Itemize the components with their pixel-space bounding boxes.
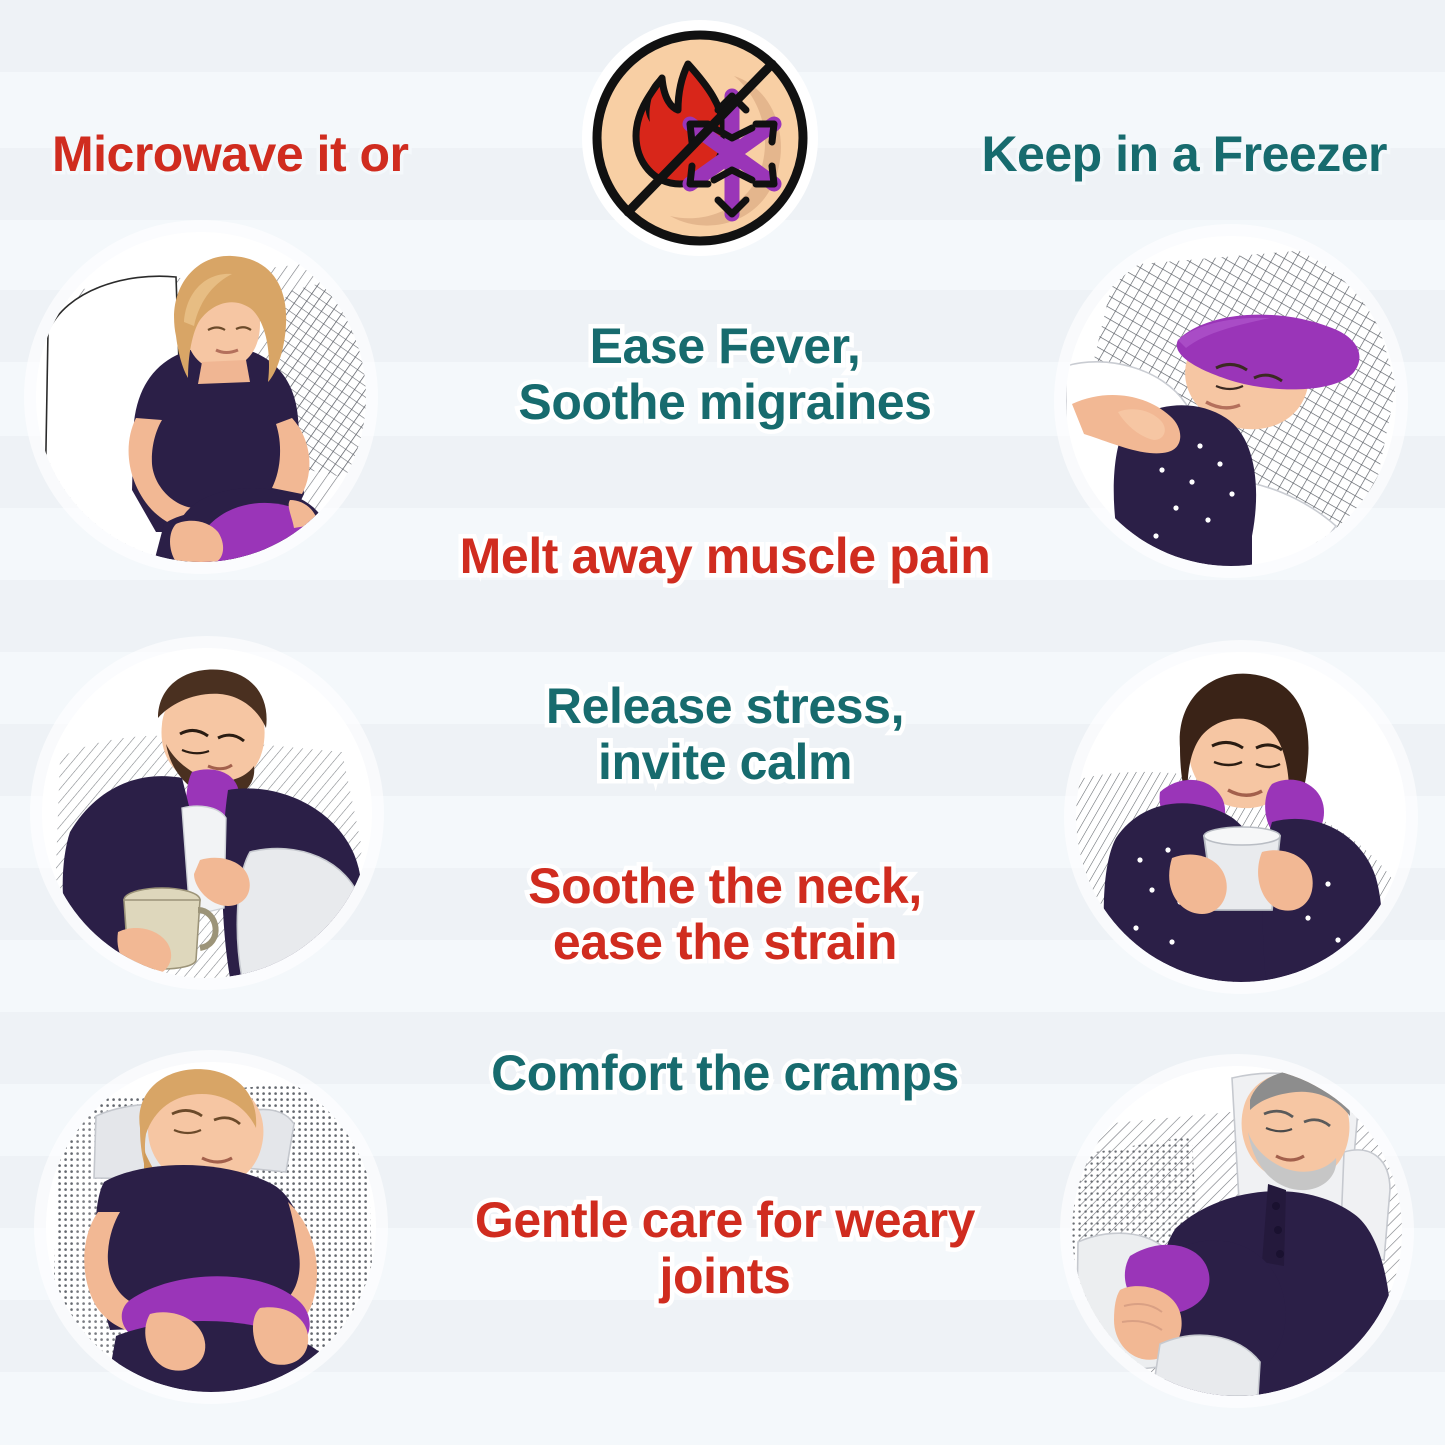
caption-line: invite calm: [400, 734, 1050, 790]
caption-line: Comfort the cramps: [360, 1045, 1090, 1101]
woman-heat-pack-on-knee: [36, 232, 366, 562]
caption-line: Ease Fever,: [355, 318, 1095, 374]
caption-melt-muscle-pain: Melt away muscle pain: [340, 528, 1110, 584]
heading-microwave: Microwave it or: [52, 128, 409, 181]
caption-line: Soothe the neck,: [380, 858, 1070, 914]
caption-release-stress: Release stress, invite calm: [400, 678, 1050, 790]
woman-heat-pack-on-abdomen: [46, 1062, 376, 1392]
caption-line: Soothe migraines: [355, 374, 1095, 430]
background-band: [0, 580, 1445, 652]
caption-line: Release stress,: [400, 678, 1050, 734]
woman-cold-wrap-on-neck: [1076, 652, 1406, 982]
caption-line: joints: [350, 1248, 1100, 1304]
no-heat-no-cold-badge: [566, 18, 834, 268]
infographic-root: Microwave it or Keep in a Freezer Ease F…: [0, 0, 1445, 1445]
caption-gentle-care-joints: Gentle care for weary joints: [350, 1192, 1100, 1304]
caption-comfort-cramps: Comfort the cramps: [360, 1045, 1090, 1101]
caption-line: Gentle care for weary: [350, 1192, 1100, 1248]
man-heat-wrap-on-neck: [42, 648, 372, 978]
woman-cold-pack-on-forehead: [1066, 236, 1396, 566]
caption-line: Melt away muscle pain: [340, 528, 1110, 584]
caption-line: ease the strain: [380, 914, 1070, 970]
older-man-pack-on-elbow: [1072, 1066, 1402, 1396]
heading-freezer: Keep in a Freezer: [981, 128, 1387, 181]
caption-ease-fever: Ease Fever, Soothe migraines: [355, 318, 1095, 430]
caption-soothe-neck: Soothe the neck, ease the strain: [380, 858, 1070, 970]
